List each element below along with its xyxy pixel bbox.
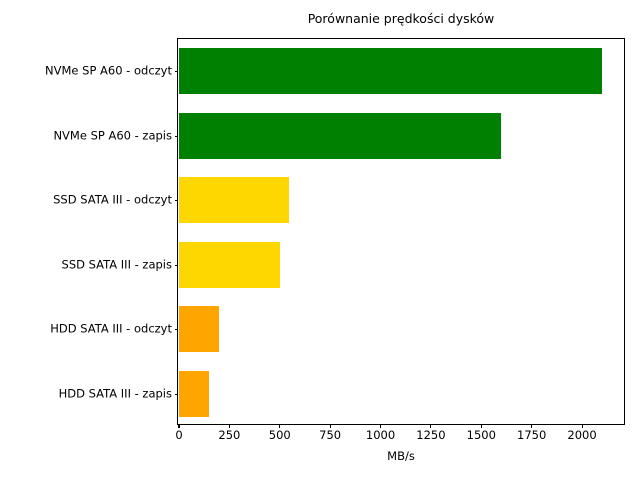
x-tick-label: 1000 (366, 429, 395, 441)
bar (179, 306, 219, 352)
y-tick-mark (175, 329, 179, 330)
bar (179, 371, 209, 417)
y-tick-mark (175, 136, 179, 137)
y-tick-mark (175, 394, 179, 395)
x-tick-mark (531, 424, 532, 428)
x-tick-mark (178, 424, 179, 428)
x-tick-label: 1250 (416, 429, 445, 441)
bar (179, 48, 602, 94)
x-tick-label: 2000 (567, 429, 596, 441)
y-tick-label: SSD SATA III - odczyt (53, 195, 172, 207)
x-tick-mark (582, 424, 583, 428)
x-tick-label: 0 (175, 429, 182, 441)
x-tick-label: 500 (269, 429, 291, 441)
bar (179, 113, 501, 159)
chart-title: Porównanie prędkości dysków (177, 11, 625, 26)
x-tick-mark (380, 424, 381, 428)
y-tick-label: NVMe SP A60 - odczyt (45, 66, 172, 78)
x-tick-mark (430, 424, 431, 428)
bar (179, 177, 289, 223)
x-tick-mark (229, 424, 230, 428)
y-tick-label: HDD SATA III - odczyt (50, 324, 172, 336)
x-tick-label: 1750 (517, 429, 546, 441)
x-tick-mark (481, 424, 482, 428)
x-tick-mark (330, 424, 331, 428)
bar (179, 242, 280, 288)
plot-area: NVMe SP A60 - odczytNVMe SP A60 - zapisS… (177, 38, 625, 425)
y-tick-label: SSD SATA III - zapis (62, 259, 172, 271)
y-tick-label: HDD SATA III - zapis (59, 388, 172, 400)
y-tick-mark (175, 71, 179, 72)
y-tick-mark (175, 265, 179, 266)
x-tick-mark (279, 424, 280, 428)
x-tick-label: 750 (319, 429, 341, 441)
x-tick-label: 250 (218, 429, 240, 441)
x-tick-label: 1500 (467, 429, 496, 441)
y-tick-mark (175, 200, 179, 201)
y-tick-label: NVMe SP A60 - zapis (53, 130, 172, 142)
chart-figure: Porównanie prędkości dysków NVMe SP A60 … (0, 0, 640, 480)
bars-layer (178, 39, 624, 424)
x-axis-label: MB/s (177, 450, 625, 463)
